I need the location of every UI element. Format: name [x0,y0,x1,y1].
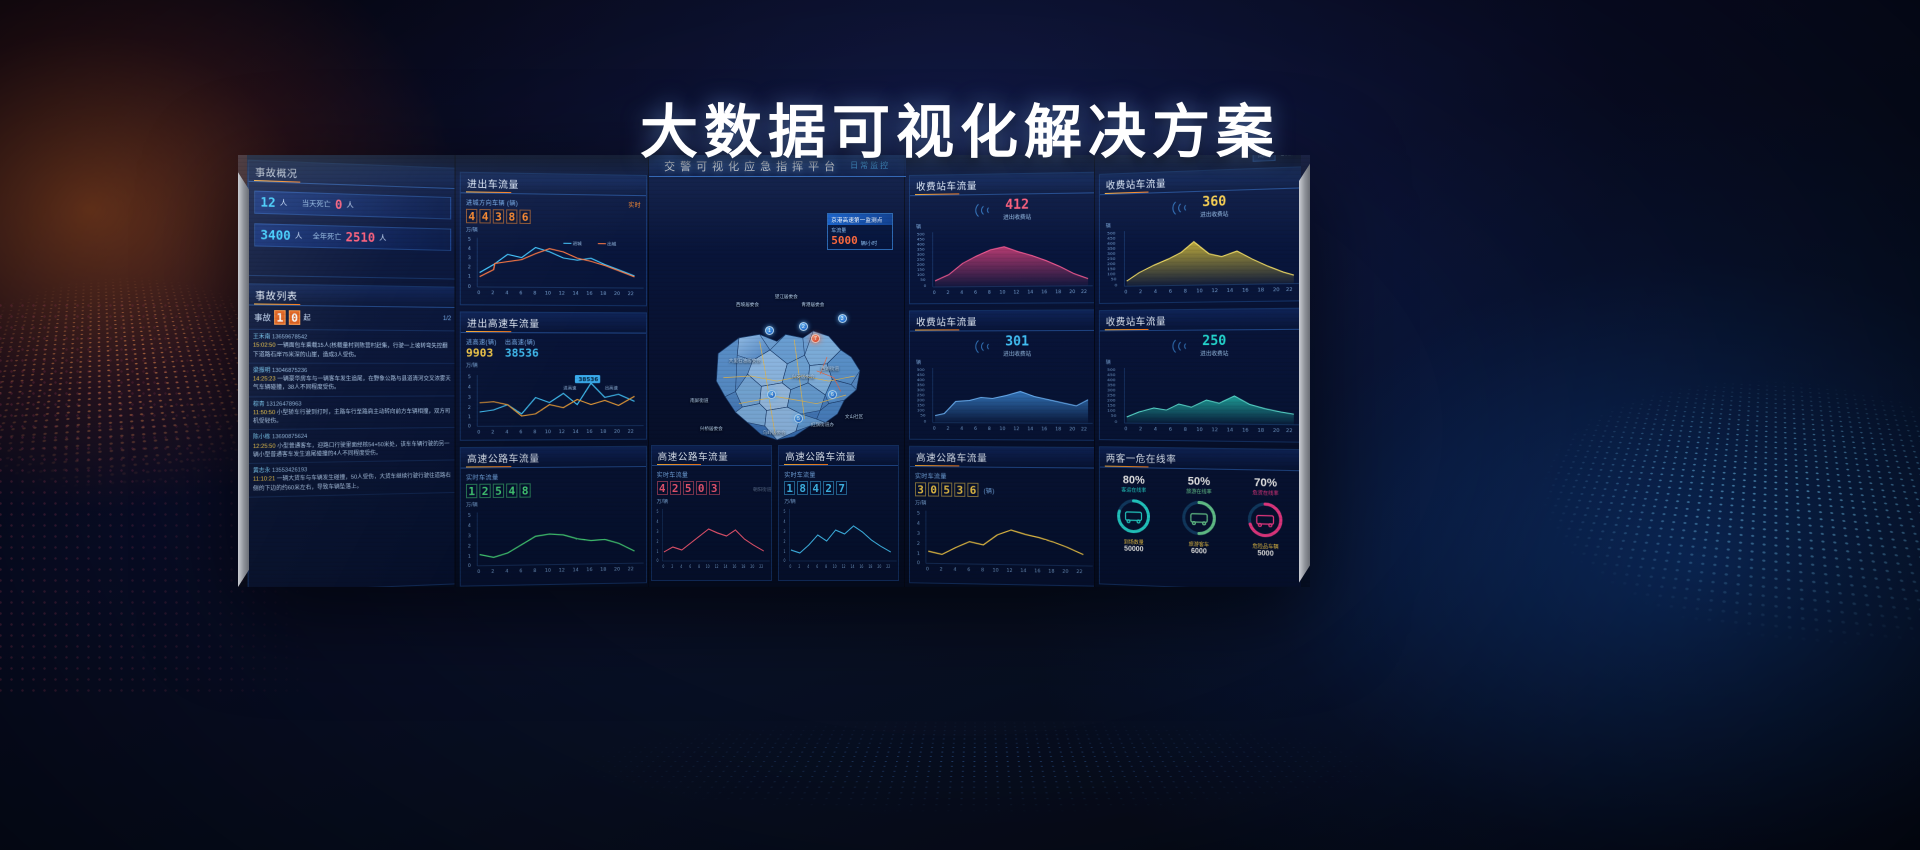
toll-3-label: 进出收费站 [1003,350,1031,358]
map-tooltip: 京港高速第一监测点 车流量 5000 辆/小时 [827,213,893,250]
panel-inout-flow: 进出车流量 进城方向车辆 (辆) 实时 4 4 3 8 6 万/辆 [460,172,647,307]
toll-3-y-label: 辆 [910,358,1095,366]
highway-3-digit: 6 [967,483,978,497]
highway-2-digit: 3 [709,481,720,495]
svg-text:6: 6 [974,426,977,432]
svg-text:5: 5 [468,513,471,519]
svg-text:2: 2 [468,405,471,411]
svg-text:12: 12 [1013,290,1019,296]
stat-row-today: 12 人 当天死亡 0 人 [254,191,451,220]
svg-text:16: 16 [1242,428,1249,434]
panel-highway-flow-4: 高速公路车流量 实时车流量 1 8 4 2 7 万/辆 543 210 024 [778,445,899,581]
list-item[interactable]: 王禾南 13659678542 15:02:50 一辆面包车乘载15人(核载量村… [249,330,456,364]
svg-text:0: 0 [926,567,929,573]
panel-title-toll-4: 收费站车流量 [1100,309,1301,332]
highway-1-sub: 实时车流量 [466,471,641,482]
svg-text:500: 500 [916,367,924,372]
panel-title-online-rate: 两客一危在线率 [1100,447,1301,471]
svg-text:200: 200 [1108,398,1117,403]
svg-text:38536: 38536 [578,377,598,383]
map-region-label: 大里石油居委会 [729,358,761,364]
inbound-badge: 实时 [628,200,641,209]
svg-text:10: 10 [705,565,710,570]
signal-wave-icon [972,201,998,218]
signal-wave-icon [1170,337,1196,354]
svg-text:14: 14 [1227,288,1234,294]
toll-3-value: 301 [1003,334,1031,349]
svg-text:2: 2 [946,426,949,432]
year-accident-count: 3400 [260,228,290,243]
accident-reporter-phone: 13126478963 [266,401,301,408]
page-title: 大数据可视化解决方案 [0,85,1920,169]
today-accident-unit: 人 [280,198,287,209]
panel-title-highway-flow-4: 高速公路车流量 [779,446,898,466]
toll-2-value: 360 [1201,194,1229,210]
panel-highway-flow-3: 高速公路车流量 实时车流量 3 0 5 3 6 (辆) 万/辆 [909,446,1096,587]
svg-text:20: 20 [614,429,620,435]
highway-3-sub: 实时车流量 [915,471,1090,482]
svg-text:14: 14 [1227,428,1234,434]
online-1-caption: 客运在线率 [1114,486,1154,494]
svg-text:300: 300 [1108,388,1117,393]
map-region-label: 红旗街道办 [811,422,834,428]
online-3-pct: 70% [1245,476,1287,489]
svg-text:0: 0 [1115,419,1118,424]
highway-2-digit: 5 [683,481,694,495]
svg-text:1: 1 [916,551,919,557]
accident-list-pager[interactable]: 1/2 [443,316,451,322]
svg-text:2: 2 [468,265,471,271]
svg-text:22: 22 [1286,287,1293,293]
svg-text:8: 8 [533,568,536,574]
svg-text:8: 8 [1184,289,1187,295]
svg-text:2: 2 [1139,289,1142,295]
accident-count-digit-1: 1 [274,310,286,325]
svg-text:0: 0 [1115,283,1118,288]
svg-text:16: 16 [1041,289,1047,295]
svg-text:4: 4 [468,523,471,529]
svg-text:6: 6 [689,565,692,570]
svg-text:350: 350 [916,382,924,387]
svg-text:4: 4 [953,567,956,573]
highway-2-y-label: 万/辆 [657,498,766,505]
svg-text:150: 150 [916,267,924,272]
svg-text:20: 20 [1062,569,1068,575]
svg-text:22: 22 [1076,569,1082,575]
toll-4-value: 250 [1201,334,1229,350]
map-region-label: 乌岭居委会 [763,430,786,436]
accident-text: 一辆豪华房车与一辆客车发生追尾，在野象公路与县道清河交叉浓雾天气车辆碰撞，38人… [253,376,451,391]
svg-text:22: 22 [627,567,633,573]
online-2-donut [1179,497,1220,540]
svg-text:16: 16 [732,565,737,570]
svg-text:10: 10 [545,429,551,435]
svg-text:3: 3 [468,533,471,539]
svg-text:10: 10 [1197,427,1204,433]
svg-text:18: 18 [600,567,606,573]
svg-text:12: 12 [714,565,718,570]
chart-toll-1: 500450400350 300250200150 100500 0246 81… [910,228,1095,303]
svg-text:4: 4 [808,565,811,570]
svg-text:5: 5 [468,374,471,380]
svg-text:4: 4 [680,565,683,570]
svg-text:0: 0 [662,565,665,570]
svg-text:150: 150 [1108,403,1117,408]
panel-title-toll-3: 收费站车流量 [910,310,1095,331]
svg-text:4: 4 [505,569,508,575]
svg-text:16: 16 [1242,288,1249,294]
svg-text:4: 4 [960,290,963,296]
toll-4-label: 进出收费站 [1201,349,1229,357]
accident-count-suffix: 起 [303,312,310,323]
svg-text:150: 150 [916,403,924,408]
svg-text:14: 14 [851,565,856,570]
svg-text:3: 3 [656,530,659,535]
highway-3-unit: (辆) [983,485,994,494]
chart-toll-3: 500450400350 300250200150 100500 0246 81… [910,366,1095,440]
highway-2-digit: 0 [696,481,707,495]
svg-text:300: 300 [916,387,924,392]
online-1-pct: 80% [1114,474,1154,487]
map-marker[interactable]: 1 [765,326,774,335]
svg-text:5: 5 [916,511,919,517]
svg-text:14: 14 [1027,290,1033,296]
panel-online-rate: 两客一危在线率 80% 客运在线率 到场数量 50000 [1099,446,1301,587]
wall-screens: 事故概况 12 人 当天死亡 0 人 3400 人 全年死亡 2510 人 [247,155,1301,587]
map-region-label: 青港居委会 [801,302,824,308]
panel-title-highway-inout: 进出高速车流量 [461,312,646,333]
svg-text:3: 3 [784,530,787,535]
list-item[interactable]: 梁振明 13046875236 14:25:23 一辆豪华房车与一辆客车发生追尾… [249,363,456,397]
highway-1-digit: 5 [493,484,504,498]
highway-out-label: 出高速(辆) [505,337,539,346]
highway-4-digit: 1 [784,481,795,495]
svg-text:400: 400 [916,377,924,382]
accident-reporter-phone: 13046875236 [272,368,307,374]
svg-text:0: 0 [477,569,480,575]
svg-text:8: 8 [533,291,536,297]
svg-text:0: 0 [923,283,926,288]
svg-text:6: 6 [967,567,970,573]
accident-reporter-phone: 13659678542 [272,334,307,341]
accident-reporter-phone: 13690875624 [272,434,307,441]
svg-text:4: 4 [916,521,919,527]
chart-toll-4: 500450400350 300250200150 100500 0246 81… [1100,366,1301,442]
svg-text:20: 20 [750,565,755,570]
toll-1-label: 进出收费站 [1003,213,1031,222]
inbound-digit: 4 [479,209,490,223]
svg-text:6: 6 [519,430,522,436]
svg-text:12: 12 [1212,427,1219,433]
accident-reporter-name: 王禾南 [253,334,270,340]
highway-in-label: 进高速(辆) [466,337,497,346]
svg-text:20: 20 [614,567,620,573]
svg-text:20: 20 [1069,427,1075,433]
panel-highway-flow-2: 高速公路车流量 实时车流量 4 2 5 0 3 万/辆 543 210 024 [651,445,772,581]
svg-text:6: 6 [519,568,522,574]
highway-inout-y-label: 万/辆 [461,360,646,369]
svg-text:22: 22 [759,565,763,570]
highway-4-digit: 2 [823,481,834,495]
svg-text:0: 0 [784,559,787,564]
year-accident-unit: 人 [295,231,302,242]
highway-3-digit: 3 [954,483,965,497]
accident-reporter-name: 梁振明 [253,368,270,374]
accident-reporter-name: 棕青 [253,401,265,407]
svg-text:1: 1 [468,274,471,280]
svg-text:400: 400 [1108,378,1117,383]
svg-text:8: 8 [981,568,984,574]
panel-highway-inout: 进出高速车流量 进高速(辆) 9903 出高速(辆) 38536 万/辆 54 [460,311,647,440]
svg-text:250: 250 [1108,256,1117,261]
highway-3-digit: 0 [928,482,939,496]
svg-text:18: 18 [1258,288,1265,294]
panel-toll-4: 收费站车流量 250 进出收费站 辆 [1099,308,1301,443]
svg-text:12: 12 [1006,568,1012,574]
accident-text: 一辆大货车与车辆发生碰撞，50人受伤，大货车继续行驶行驶往道路右侧的下边的约60… [253,473,451,492]
svg-text:0: 0 [1125,427,1128,433]
svg-text:4: 4 [784,520,787,525]
svg-text:0: 0 [1125,290,1128,296]
svg-text:14: 14 [1027,426,1033,432]
svg-text:16: 16 [586,429,592,435]
svg-text:2: 2 [671,565,673,570]
highway-out-value: 38536 [505,346,539,359]
accident-reporter-name: 陈小栋 [253,434,270,441]
svg-text:350: 350 [1108,246,1117,251]
svg-text:14: 14 [1020,568,1026,574]
online-2-value: 6000 [1179,547,1220,556]
today-death-count: 0 [335,197,342,212]
svg-text:16: 16 [1041,426,1047,432]
highway-2-digit: 2 [670,481,681,495]
svg-text:12: 12 [1013,426,1019,432]
svg-text:50: 50 [920,277,926,282]
screen-traffic-flow: 进出车流量 进城方向车辆 (辆) 实时 4 4 3 8 6 万/辆 [454,155,651,587]
svg-text:2: 2 [468,544,471,550]
svg-text:6: 6 [816,565,819,570]
svg-text:18: 18 [1258,428,1265,434]
list-item[interactable]: 棕青 13126478963 11:50:50 小型轿车行驶到打时，主路车行至路… [249,396,456,431]
wall-bezel-left [238,155,249,587]
svg-text:12: 12 [559,291,565,297]
svg-text:16: 16 [586,291,592,297]
accident-text: 小型轿车行驶到打时，主路车行至路肩主动转向前方车辆相撞，双方司机受轻伤。 [253,408,450,424]
svg-text:500: 500 [1108,231,1117,236]
svg-text:0: 0 [790,565,793,570]
svg-text:2: 2 [916,541,919,547]
svg-text:450: 450 [916,372,924,377]
svg-text:6: 6 [974,290,977,296]
svg-text:4: 4 [468,246,471,252]
map-tooltip-label: 车流量 [831,227,889,234]
online-1-value: 50000 [1114,545,1154,554]
inbound-digit: 3 [493,209,504,223]
svg-text:12: 12 [559,429,565,435]
inbound-digit: 8 [506,209,517,223]
highway-1-digit: 2 [479,484,490,498]
signal-wave-icon [972,338,998,354]
online-item-2: 50% 旅游在线率 旅游客车 6000 [1179,475,1220,556]
svg-text:20: 20 [1069,289,1075,295]
highway-3-digit: 5 [941,482,952,496]
svg-text:0: 0 [932,290,935,296]
svg-text:22: 22 [886,565,890,570]
svg-text:0: 0 [932,426,935,432]
svg-text:10: 10 [999,290,1005,296]
accident-text: 小型普通客车，迎路口行驶里面经核54+50米处，该车车辆行驶的另一辆小型普通客车… [253,441,450,459]
svg-text:5: 5 [468,237,471,243]
svg-text:1: 1 [656,550,658,555]
map-region-label: 兴安居委会 [792,374,815,380]
svg-text:0: 0 [468,284,471,290]
svg-text:1: 1 [468,414,471,420]
year-death-unit: 人 [379,233,386,243]
svg-text:400: 400 [1108,241,1117,246]
svg-text:1: 1 [468,554,471,560]
svg-text:进城: 进城 [572,240,582,247]
svg-text:50: 50 [1111,277,1117,282]
svg-text:2: 2 [784,540,786,545]
svg-text:2: 2 [946,290,949,296]
svg-text:450: 450 [1108,372,1117,377]
accident-reporter-name: 黄志永 [253,468,270,475]
svg-text:4: 4 [960,426,963,432]
panel-title-accident-list: 事故列表 [249,284,456,308]
chart-toll-2: 500450400350 300250200150 100500 0246 81… [1100,224,1301,303]
svg-text:16: 16 [860,565,865,570]
list-item[interactable]: 黄志永 13553426193 11:10:21 一辆大货车与车辆发生碰撞，50… [249,460,456,497]
svg-text:12: 12 [559,568,565,574]
svg-text:100: 100 [1108,272,1117,277]
screen-toll-left: 收费站车流量 412 进出收费站 辆 [904,155,1101,587]
wall-bezel-right [1299,155,1310,587]
svg-text:8: 8 [825,565,828,570]
svg-text:20: 20 [614,291,620,297]
svg-text:出城: 出城 [607,241,617,248]
highway-4-y-label: 万/辆 [784,498,893,505]
highway-2-digit: 4 [657,481,668,495]
highway-1-digit: 4 [506,483,517,497]
svg-text:14: 14 [572,291,578,297]
panel-toll-2: 收费站车流量 360 进出收费站 辆 [1099,166,1301,304]
map-region-label: 兴桥居委会 [700,426,723,432]
online-2-caption: 旅游在线率 [1179,488,1220,496]
inbound-digit: 6 [519,210,530,224]
accident-count-digit-2: 0 [289,310,300,325]
chart-highway-flow-3: 543 210 024 6810 121416 182022 [910,506,1095,582]
highway-2-sub: 实时车流量 [657,470,766,479]
map-marker[interactable]: 6 [828,390,837,399]
svg-text:2: 2 [491,430,494,436]
chart-highway-flow-1: 543 210 024 6810 121416 182022 [461,506,646,582]
map-region-label: 南屏街道 [690,398,708,404]
svg-text:16: 16 [1034,568,1040,574]
svg-text:300: 300 [1108,251,1117,256]
accident-time: 11:10:21 [253,476,275,483]
chart-highway-flow-2: 543 210 024 6810 121416 182022 [652,505,771,577]
online-3-value: 5000 [1245,550,1287,559]
map-region-label: 西坡居委会 [736,302,759,308]
svg-text:0: 0 [923,419,926,424]
svg-text:2: 2 [1139,427,1142,433]
svg-text:4: 4 [1154,427,1157,433]
svg-text:20: 20 [1273,287,1280,293]
highway-1-digit: 8 [519,483,530,497]
today-death-unit: 人 [346,200,353,211]
svg-text:4: 4 [656,520,659,525]
svg-text:14: 14 [572,568,578,574]
svg-text:18: 18 [1055,289,1061,295]
svg-text:2: 2 [491,569,494,575]
accident-count-prefix: 事故 [254,311,271,323]
accident-time: 11:50:50 [253,410,275,416]
svg-text:出高速: 出高速 [605,385,618,391]
highway-4-sub: 实时车流量 [784,470,893,479]
svg-text:10: 10 [1197,289,1204,295]
svg-text:4: 4 [505,430,508,436]
panel-title-toll-1: 收费站车流量 [910,173,1095,196]
svg-text:5: 5 [784,510,787,515]
svg-text:0: 0 [477,290,480,296]
svg-text:18: 18 [869,565,874,570]
chart-highway-flow-4: 543 210 024 6810 121416 182022 [779,505,898,577]
svg-text:10: 10 [992,568,998,574]
online-1-donut [1114,495,1154,537]
svg-text:8: 8 [988,426,991,432]
today-accident-count: 12 [260,195,275,210]
today-death-label: 当天死亡 [302,198,331,209]
svg-text:18: 18 [600,291,606,297]
video-wall: 事故概况 12 人 当天死亡 0 人 3400 人 全年死亡 2510 人 [238,155,1310,587]
svg-text:22: 22 [627,429,633,435]
svg-text:4: 4 [1154,289,1157,295]
inbound-digit: 4 [466,209,477,224]
svg-text:2: 2 [656,540,658,545]
list-item[interactable]: 陈小栋 13690875624 12:25:50 小型普通客车，迎路口行驶里面经… [249,428,456,464]
chart-inout-flow: 543 210 024 6810 121416 182022 进城出城 [461,233,646,302]
svg-text:6: 6 [1169,427,1172,433]
svg-text:16: 16 [586,567,592,573]
year-death-count: 2510 [346,230,375,245]
highway-1-digit: 1 [466,484,477,498]
map-tooltip-value: 5000 [831,234,858,247]
map-marker[interactable]: 3 [838,314,847,323]
panel-accident-list: 事故列表 事故 1 0 起 1/2 王禾南 13659678542 15:02:… [248,283,457,587]
svg-text:14: 14 [572,429,578,435]
svg-text:3: 3 [468,255,471,261]
svg-text:3: 3 [916,531,919,537]
panel-toll-1: 收费站车流量 412 进出收费站 辆 [909,172,1096,305]
accident-time: 14:25:23 [253,376,276,382]
toll-2-label: 进出收费站 [1201,210,1229,219]
online-3-donut [1245,498,1287,541]
svg-text:450: 450 [1108,236,1117,241]
map-marker[interactable]: 2 [799,322,808,331]
map-marker-alert[interactable]: 7 [811,334,820,343]
svg-text:100: 100 [1108,408,1117,413]
svg-text:0: 0 [468,563,471,569]
svg-text:10: 10 [545,568,551,574]
online-item-3: 70% 危货在线率 危险品车辆 5000 [1245,476,1287,558]
accident-text: 一辆面包车乘载15人(核载量村到陈营村赶集，行驶一上坡转弯失控翻下道路石岸75米… [253,343,448,358]
svg-text:150: 150 [1108,266,1117,271]
svg-text:100: 100 [916,408,924,413]
online-3-caption: 危货在线率 [1245,489,1287,497]
toll-4-y-label: 辆 [1100,357,1301,366]
map-tooltip-title: 京港高速第一监测点 [828,214,892,225]
online-2-pct: 50% [1179,475,1220,488]
